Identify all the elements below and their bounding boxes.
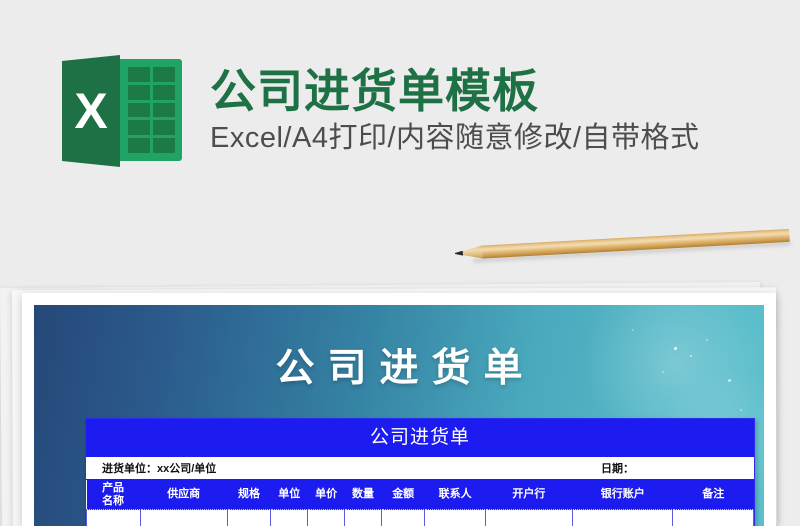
promo-title: 公司进货单模板 xyxy=(210,67,700,115)
table-header-row: 产品名称供应商规格单位单价数量金额联系人开户行银行账户备注 xyxy=(87,480,754,510)
document-banner: 公司进货单 公司进货单 进货单位：xx公司/单位 日期： 产品名称供应商规格单位… xyxy=(34,305,764,526)
excel-grid-cell xyxy=(153,120,175,135)
column-header-bank_branch: 开户行 xyxy=(485,480,572,510)
excel-logo-icon: X xyxy=(62,55,186,167)
purchase-order-table: 公司进货单 进货单位：xx公司/单位 日期： 产品名称供应商规格单位单价数量金额… xyxy=(85,418,755,526)
table-body xyxy=(87,510,754,526)
cell-product_name[interactable] xyxy=(87,510,141,526)
cell-unit[interactable] xyxy=(271,510,308,526)
cell-contact[interactable] xyxy=(425,510,485,526)
cell-bank_account[interactable] xyxy=(572,510,673,526)
excel-grid-cell xyxy=(128,138,150,153)
sparkle-dot xyxy=(740,409,742,411)
promo-content: X 公司进货单模板 Excel/A4打印/内容随意修改/自带格式 xyxy=(62,55,700,167)
column-header-supplier: 供应商 xyxy=(140,480,227,510)
column-header-bank_account: 银行账户 xyxy=(572,480,673,510)
excel-logo-letter: X xyxy=(62,55,120,167)
order-grid: 产品名称供应商规格单位单价数量金额联系人开户行银行账户备注 xyxy=(86,480,754,526)
excel-grid-cell xyxy=(153,138,175,153)
excel-grid-cell xyxy=(128,85,150,100)
column-header-contact: 联系人 xyxy=(425,480,485,510)
table-meta-row: 进货单位：xx公司/单位 日期： xyxy=(86,456,754,480)
column-header-product_name: 产品名称 xyxy=(87,480,141,510)
document-banner-title: 公司进货单 xyxy=(34,337,764,393)
column-header-unit: 单位 xyxy=(271,480,308,510)
table-title: 公司进货单 xyxy=(86,419,754,456)
column-header-quantity: 数量 xyxy=(345,480,382,510)
cell-supplier[interactable] xyxy=(140,510,227,526)
pencil-graphite-tip xyxy=(455,251,463,256)
excel-grid-cell xyxy=(128,67,150,82)
cell-spec[interactable] xyxy=(227,510,271,526)
table-row[interactable] xyxy=(87,510,754,526)
cell-amount[interactable] xyxy=(381,510,425,526)
column-header-spec: 规格 xyxy=(227,480,271,510)
promo-text-block: 公司进货单模板 Excel/A4打印/内容随意修改/自带格式 xyxy=(210,67,700,155)
column-header-amount: 金额 xyxy=(381,480,425,510)
excel-grid-cell xyxy=(153,67,175,82)
cell-bank_branch[interactable] xyxy=(485,510,572,526)
supplier-label: 进货单位：xx公司/单位 xyxy=(102,460,216,476)
paper-sheet-front: 公司进货单 公司进货单 进货单位：xx公司/单位 日期： 产品名称供应商规格单位… xyxy=(22,293,776,526)
date-label: 日期： xyxy=(601,460,634,476)
column-header-unit_price: 单价 xyxy=(308,480,345,510)
pencil-wood-cone xyxy=(461,245,484,259)
excel-grid-cell xyxy=(153,103,175,118)
excel-grid-cell xyxy=(153,85,175,100)
excel-logo-grid xyxy=(128,67,175,153)
excel-grid-cell xyxy=(128,120,150,135)
cell-remark[interactable] xyxy=(673,510,754,526)
excel-grid-cell xyxy=(128,103,150,118)
sparkle-dot xyxy=(632,329,634,331)
column-header-remark: 备注 xyxy=(673,480,754,510)
cell-quantity[interactable] xyxy=(345,510,382,526)
cell-unit_price[interactable] xyxy=(308,510,345,526)
promo-subtitle: Excel/A4打印/内容随意修改/自带格式 xyxy=(210,123,700,155)
